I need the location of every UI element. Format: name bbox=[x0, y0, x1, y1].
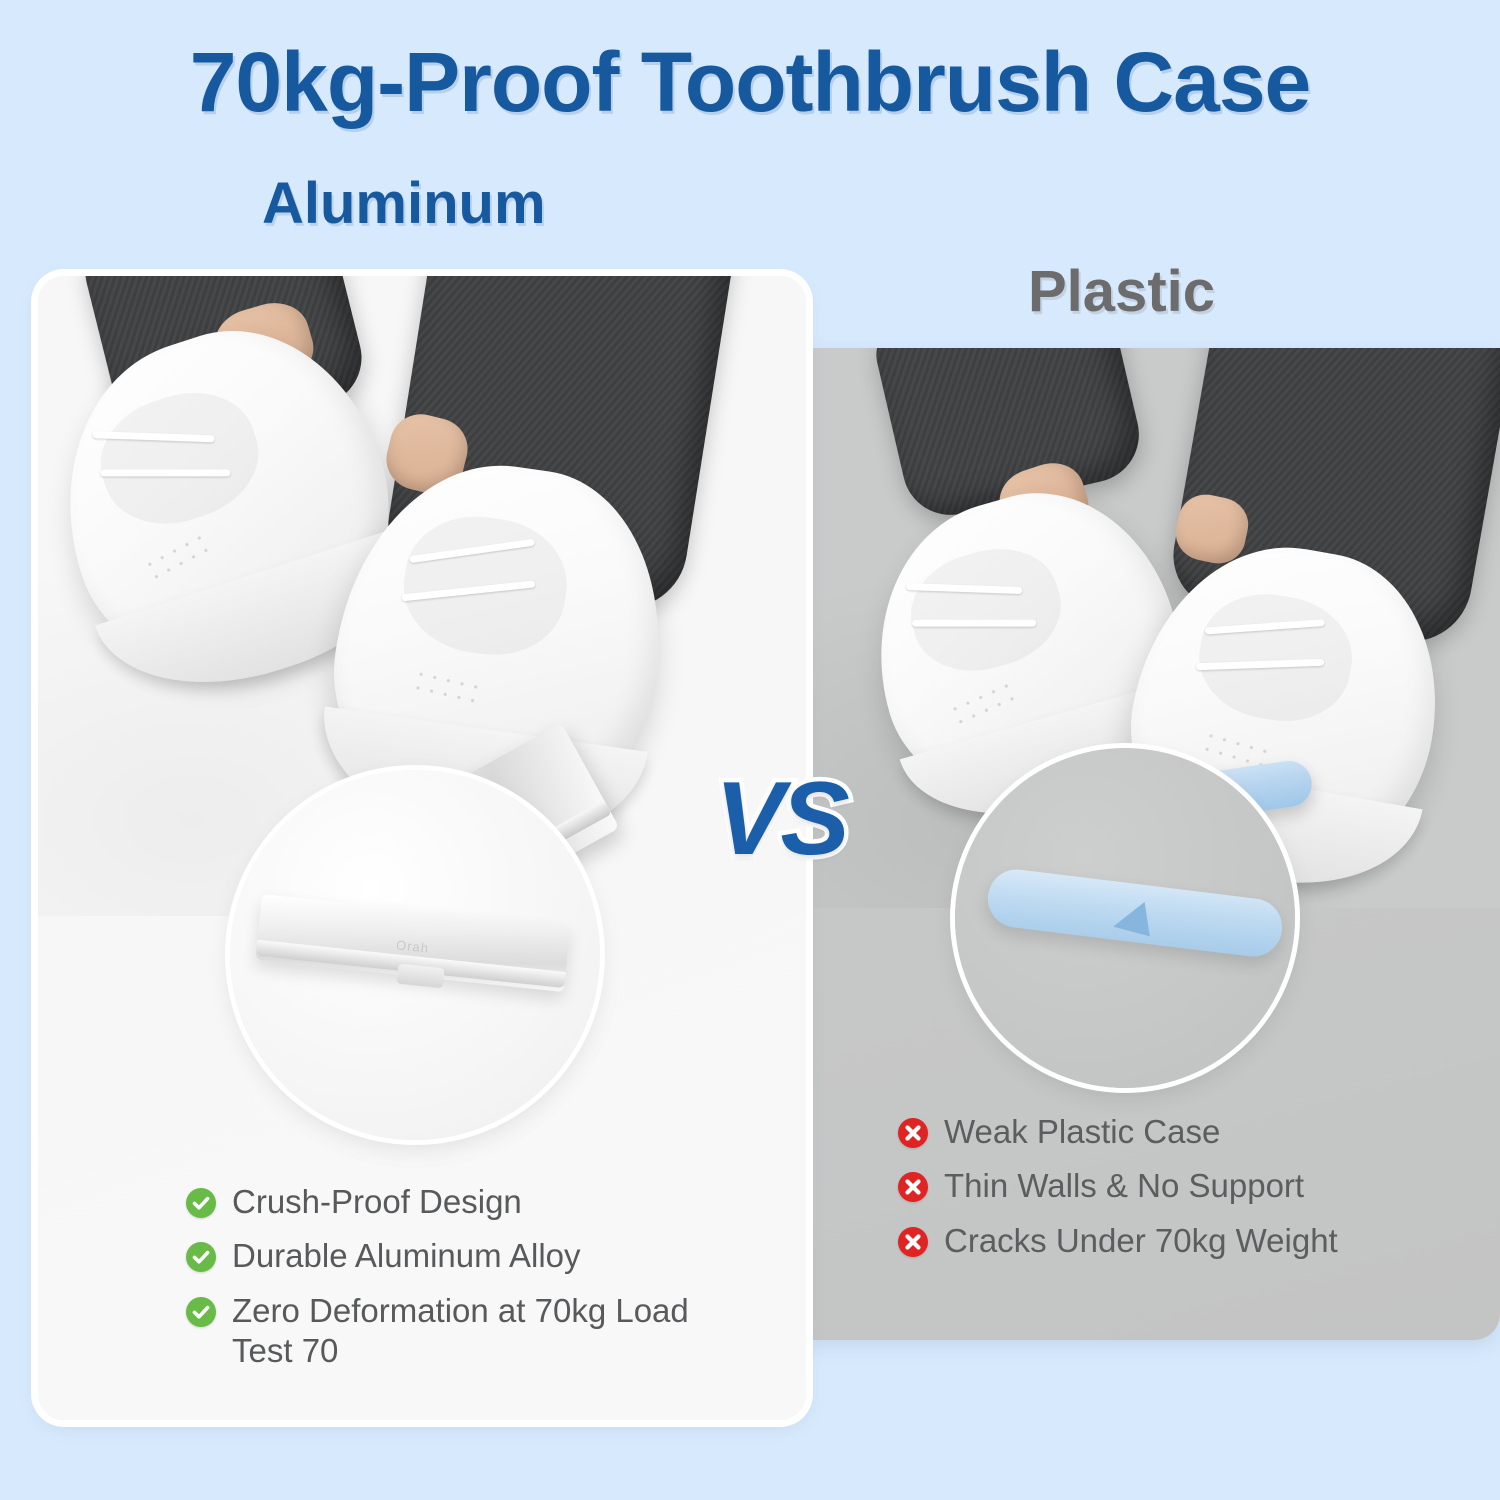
vs-badge: VS bbox=[715, 760, 846, 879]
plastic-case-closeup bbox=[985, 866, 1286, 960]
shoe-lace-patch bbox=[898, 533, 1074, 686]
plastic-column-label: Plastic bbox=[1028, 258, 1215, 325]
list-item-label: Zero Deformation at 70kg Load Test 70 bbox=[232, 1291, 702, 1372]
aluminum-case-zoom-circle: Orah bbox=[230, 770, 600, 1140]
check-circle-icon bbox=[186, 1297, 216, 1327]
list-item: Thin Walls & No Support bbox=[898, 1166, 1458, 1206]
list-item-label: Thin Walls & No Support bbox=[944, 1166, 1304, 1206]
shoe-vent-dots bbox=[409, 666, 480, 710]
check-circle-icon bbox=[186, 1188, 216, 1218]
brand-mark: Orah bbox=[395, 937, 429, 955]
crack-detail-closeup bbox=[1113, 896, 1158, 937]
shoe-vent-dots bbox=[140, 530, 212, 587]
list-item-label: Crush-Proof Design bbox=[232, 1182, 522, 1222]
cross-circle-icon bbox=[898, 1227, 928, 1257]
list-item: Zero Deformation at 70kg Load Test 70 bbox=[186, 1291, 746, 1372]
shoe-lace bbox=[100, 469, 230, 476]
aluminum-feature-list: Crush-Proof Design Durable Aluminum Allo… bbox=[186, 1182, 746, 1371]
cross-circle-icon bbox=[898, 1118, 928, 1148]
case-hinge bbox=[396, 964, 444, 989]
shoe-vent-dots bbox=[946, 678, 1018, 732]
list-item: Cracks Under 70kg Weight bbox=[898, 1221, 1458, 1261]
list-item: Durable Aluminum Alloy bbox=[186, 1236, 746, 1276]
shoe-lace-patch bbox=[1190, 583, 1361, 732]
list-item-label: Durable Aluminum Alloy bbox=[232, 1236, 581, 1276]
shoe-lace bbox=[912, 620, 1036, 627]
plastic-case-zoom-circle bbox=[955, 748, 1295, 1088]
shoe-lace-patch bbox=[85, 375, 274, 542]
list-item: Weak Plastic Case bbox=[898, 1112, 1458, 1152]
list-item: Crush-Proof Design bbox=[186, 1182, 746, 1222]
check-circle-icon bbox=[186, 1242, 216, 1272]
cross-circle-icon bbox=[898, 1172, 928, 1202]
aluminum-column-label: Aluminum bbox=[262, 170, 546, 237]
plastic-feature-list: Weak Plastic Case Thin Walls & No Suppor… bbox=[898, 1112, 1458, 1261]
list-item-label: Weak Plastic Case bbox=[944, 1112, 1220, 1152]
list-item-label: Cracks Under 70kg Weight bbox=[944, 1221, 1338, 1261]
aluminum-case-closeup: Orah bbox=[255, 894, 570, 992]
page-title: 70kg-Proof Toothbrush Case bbox=[0, 34, 1500, 131]
